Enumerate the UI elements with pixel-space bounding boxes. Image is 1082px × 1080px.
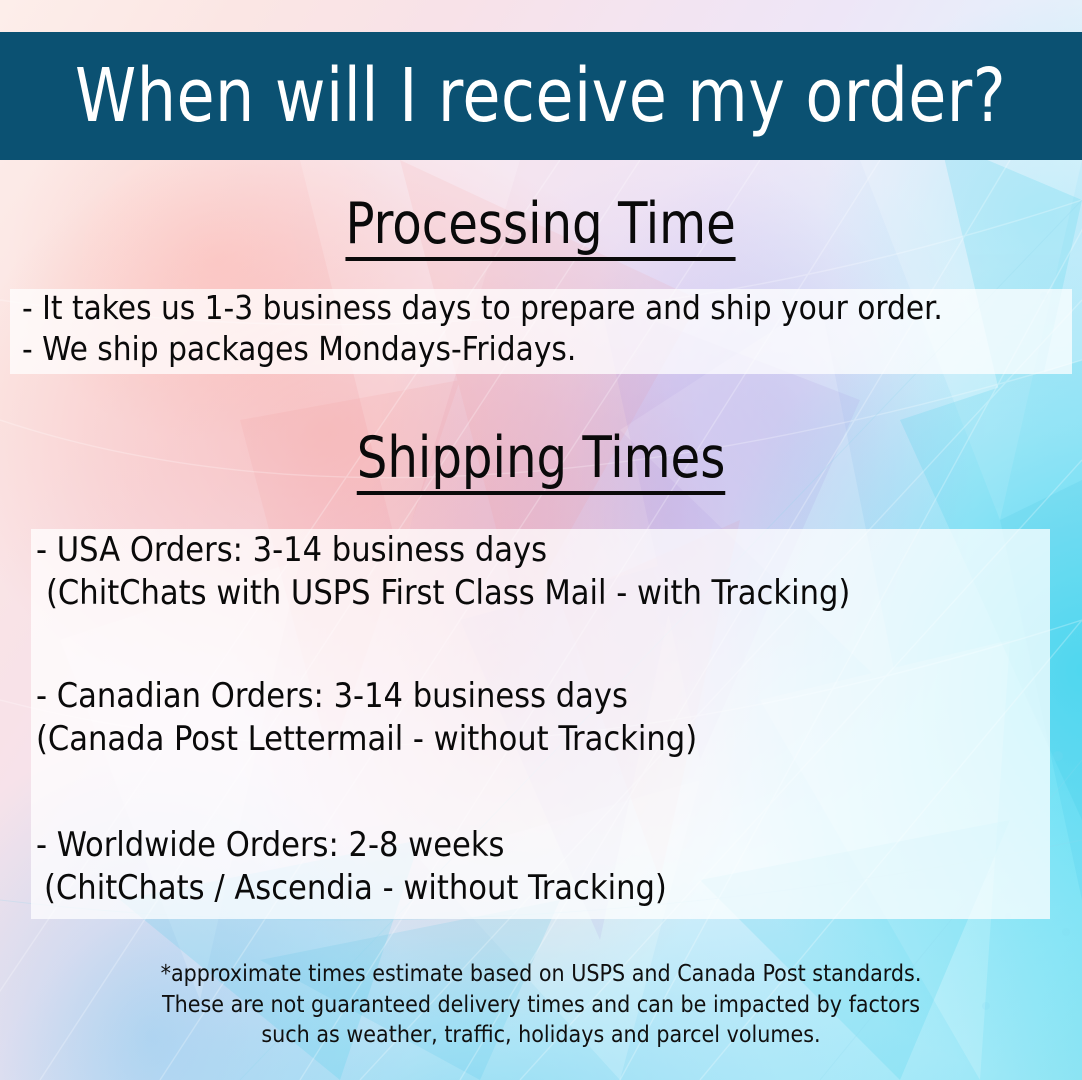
processing-time-line: - We ship packages Mondays-Fridays.: [22, 332, 943, 366]
footnote-line: These are not guaranteed delivery times …: [0, 990, 1082, 1021]
shipping-group-worldwide-main: - Worldwide Orders: 2-8 weeks: [36, 828, 667, 863]
processing-time-lines: - It takes us 1-3 business days to prepa…: [22, 291, 943, 372]
shipping-group-usa-sub: (ChitChats with USPS First Class Mail - …: [36, 576, 850, 611]
footnote-disclaimer: *approximate times estimate based on USP…: [0, 959, 1082, 1051]
footnote-line: *approximate times estimate based on USP…: [0, 959, 1082, 990]
footnote-line: such as weather, traffic, holidays and p…: [0, 1020, 1082, 1051]
shipping-info-graphic: When will I receive my order? Processing…: [0, 0, 1082, 1080]
shipping-group-canada: - Canadian Orders: 3-14 business days (C…: [36, 679, 697, 756]
section-heading-shipping-times-text: Shipping Times: [357, 430, 726, 495]
shipping-group-usa: - USA Orders: 3-14 business days (ChitCh…: [36, 533, 850, 610]
shipping-group-usa-main: - USA Orders: 3-14 business days: [36, 533, 850, 568]
processing-time-line: - It takes us 1-3 business days to prepa…: [22, 291, 943, 325]
shipping-group-worldwide: - Worldwide Orders: 2-8 weeks (ChitChats…: [36, 828, 667, 905]
section-heading-shipping-times: Shipping Times: [0, 430, 1082, 495]
header-banner: When will I receive my order?: [0, 32, 1082, 160]
shipping-group-worldwide-sub: (ChitChats / Ascendia - without Tracking…: [36, 871, 667, 906]
section-heading-processing-time: Processing Time: [0, 196, 1082, 261]
section-heading-processing-time-text: Processing Time: [346, 196, 736, 261]
shipping-group-canada-sub: (Canada Post Lettermail - without Tracki…: [36, 722, 697, 757]
shipping-group-canada-main: - Canadian Orders: 3-14 business days: [36, 679, 697, 714]
page-title: When will I receive my order?: [75, 59, 1006, 133]
